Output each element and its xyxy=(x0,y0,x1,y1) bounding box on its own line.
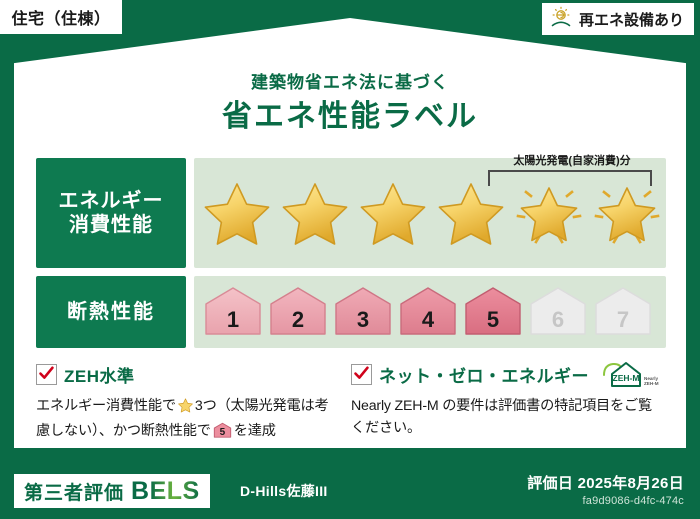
solar-portion-caption: 太陽光発電(自家消費)分 xyxy=(492,152,652,168)
house-icon-inline-value: 5 xyxy=(213,425,232,441)
star-icon xyxy=(434,176,508,248)
energy-star-rating xyxy=(200,176,664,248)
star-icon-inline xyxy=(177,397,194,420)
net-zero-energy-title: ネット・ゼロ・エネルギー xyxy=(379,362,589,387)
zeh-m-logo-icon: ZEH-M Nearly ZEH-M xyxy=(598,358,660,397)
solar-sun-icon xyxy=(548,4,574,35)
energy-performance-row: エネルギー 消費性能 太陽光発電(自家消費)分 xyxy=(36,158,666,268)
renewable-energy-label: 再エネ設備あり xyxy=(579,9,684,30)
evaluation-id: fa9d9086-d4fc-474c xyxy=(527,495,684,507)
zeh-body-part3: を達成 xyxy=(234,423,276,439)
label-subtitle: 建築物省エネ法に基づく xyxy=(14,68,686,93)
star-icon xyxy=(356,176,430,248)
star-icon-solar xyxy=(590,176,664,248)
star-icon-solar xyxy=(512,176,586,248)
insulation-level-badge: 2 xyxy=(267,284,329,340)
checkbox-checked-icon xyxy=(36,364,57,385)
net-zero-energy-body: Nearly ZEH-M の要件は評価書の特記項目をご覧ください。 xyxy=(351,395,654,439)
star-icon xyxy=(278,176,352,248)
insulation-performance-row: 断熱性能 1 2 xyxy=(36,276,666,348)
star-icon xyxy=(200,176,274,248)
zeh-standard-header: ZEH水準 xyxy=(36,362,339,387)
label-panel: 建築物省エネ法に基づく 省エネ性能ラベル エネルギー 消費性能 太陽光発電(自家… xyxy=(14,18,686,448)
zeh-standard-title: ZEH水準 xyxy=(64,362,135,387)
label-title: 省エネ性能ラベル xyxy=(14,91,686,135)
insulation-level-badge: 3 xyxy=(332,284,394,340)
insulation-level-badge: 4 xyxy=(397,284,459,340)
evaluation-date: 評価日 2025年8月26日 xyxy=(527,472,684,493)
bels-badge: 第三者評価 BELS xyxy=(14,474,210,508)
evaluation-date-label: 評価日 xyxy=(527,475,573,492)
svg-text:ZEH-M: ZEH-M xyxy=(644,381,659,386)
building-name: D-Hills佐藤III xyxy=(240,481,328,501)
bels-mark: BELS xyxy=(131,477,200,506)
svg-text:ZEH-M: ZEH-M xyxy=(613,373,640,383)
insulation-levels-area: 1 2 3 xyxy=(194,276,666,348)
energy-stars-area: 太陽光発電(自家消費)分 xyxy=(194,158,666,268)
renewable-energy-badge: 再エネ設備あり xyxy=(542,3,694,35)
zeh-standard-section: ZEH水準 エネルギー消費性能で3つ（太陽光発電は考慮しない）、かつ断熱性能で5… xyxy=(36,362,351,452)
evaluation-date-value: 2025年8月26日 xyxy=(578,475,684,492)
criteria-sections: ZEH水準 エネルギー消費性能で3つ（太陽光発電は考慮しない）、かつ断熱性能で5… xyxy=(36,362,666,452)
evaluation-info: 評価日 2025年8月26日 fa9d9086-d4fc-474c xyxy=(527,472,684,507)
insulation-level-scale: 1 2 3 xyxy=(202,284,654,340)
insulation-level-badge: 7 xyxy=(592,284,654,340)
insulation-row-label: 断熱性能 xyxy=(36,276,186,348)
energy-performance-label: 住宅（住棟） 再エネ設備あり 建築物省エネ法に基づく 省エネ性能ラベル エネルギ xyxy=(0,0,700,519)
building-type-tag: 住宅（住棟） xyxy=(0,0,122,34)
insulation-level-badge: 1 xyxy=(202,284,264,340)
zeh-standard-body: エネルギー消費性能で3つ（太陽光発電は考慮しない）、かつ断熱性能で5を達成 xyxy=(36,395,339,446)
insulation-level-badge: 6 xyxy=(527,284,589,340)
checkbox-checked-icon xyxy=(351,364,372,385)
energy-row-label: エネルギー 消費性能 xyxy=(36,158,186,268)
house-icon-inline: 5 xyxy=(213,422,232,446)
net-zero-energy-section: ネット・ゼロ・エネルギー ZEH-M Nearly ZEH-M Nearly Z… xyxy=(351,362,666,452)
insulation-level-badge: 5 xyxy=(462,284,524,340)
bels-prefix-label: 第三者評価 xyxy=(24,478,124,505)
building-type-label: 住宅（住棟） xyxy=(11,5,110,29)
zeh-body-part1: エネルギー消費性能で xyxy=(36,398,176,414)
